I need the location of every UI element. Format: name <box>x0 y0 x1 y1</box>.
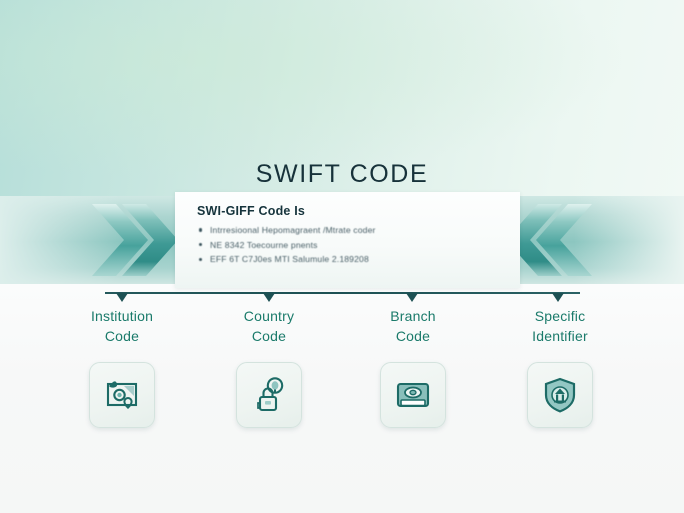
column-label-line1: Institution <box>91 308 153 324</box>
connector-marker <box>116 293 128 302</box>
padlock-globe-icon <box>249 375 289 415</box>
icon-tile-institution[interactable] <box>89 362 155 428</box>
connector-line <box>105 292 580 294</box>
column-branch-code: Branch Code <box>338 306 488 428</box>
page-title: SWIFT CODE <box>0 160 684 189</box>
column-label: Specific Identifier <box>485 306 635 346</box>
icon-tile-country[interactable] <box>236 362 302 428</box>
column-label-line1: Specific <box>535 308 586 324</box>
swift-code-info-card: SWI-GIFF Code Is Intrresioonal Hepomagra… <box>175 192 520 288</box>
column-specific-identifier: Specific Identifier <box>485 306 635 428</box>
column-label-line1: Country <box>244 308 294 324</box>
connector-marker <box>263 293 275 302</box>
icon-tile-specific-identifier[interactable] <box>527 362 593 428</box>
column-label-line1: Branch <box>390 308 436 324</box>
icon-tile-branch[interactable] <box>380 362 446 428</box>
column-label-line2: Code <box>105 328 139 344</box>
double-chevron-right-icon <box>88 196 180 284</box>
atm-card-icon <box>393 375 433 415</box>
column-country-code: Country Code <box>194 306 344 428</box>
column-label-line2: Identifier <box>532 328 588 344</box>
column-label-line2: Code <box>396 328 430 344</box>
bank-map-icon <box>102 375 142 415</box>
list-item: NE 8342 Toecourne pnents <box>197 238 520 253</box>
column-label: Branch Code <box>338 306 488 346</box>
connector-marker <box>552 293 564 302</box>
connector-marker <box>406 293 418 302</box>
shield-bank-icon <box>540 375 580 415</box>
list-item: EFF 6T C7J0es MTI Salumule 2.189208 <box>197 252 520 267</box>
card-heading: SWI-GIFF Code Is <box>197 204 520 218</box>
swift-code-infographic: SWIFT CODE <box>0 0 684 513</box>
column-label: Institution Code <box>47 306 197 346</box>
column-institution-code: Institution Code <box>47 306 197 428</box>
column-label-line2: Code <box>252 328 286 344</box>
list-item: Intrresioonal Hepomagraent /Mtrate coder <box>197 223 520 238</box>
card-bullet-list: Intrresioonal Hepomagraent /Mtrate coder… <box>197 223 520 267</box>
column-label: Country Code <box>194 306 344 346</box>
